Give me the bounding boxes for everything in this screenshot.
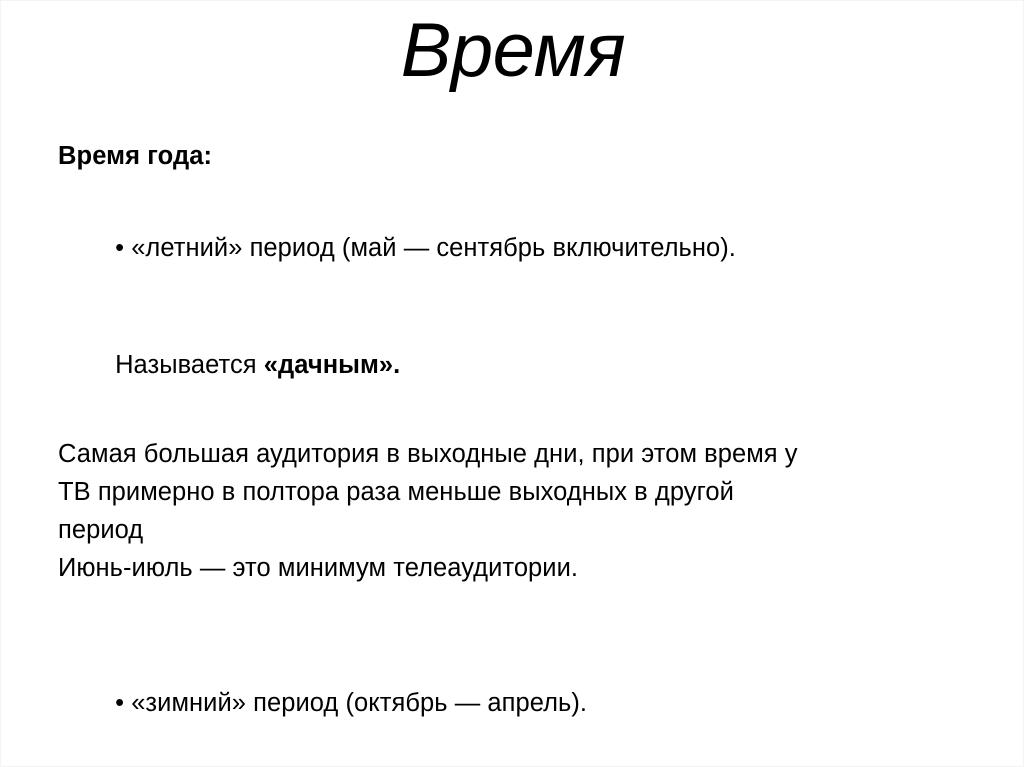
spacer [58,176,958,190]
summer-paragraph-line-2: ТВ примерно в полтора раза меньше выходн… [58,473,958,511]
slide: Время Время года: • «летний» период (май… [0,0,1024,767]
summer-paragraph-line-1: Самая большая аудитория в выходные дни, … [58,435,958,473]
winter-bullet-line: • «зимний» период (октябрь — апрель). [58,645,958,762]
summer-called-prefix: Называется [115,351,264,379]
season-heading: Время года: [58,137,958,176]
season-heading-block: Время года: [58,137,958,176]
spacer [58,424,958,435]
summer-paragraph-line-3: период [58,511,958,549]
bullet-icon: • [115,234,124,262]
spacer [58,587,958,645]
slide-body: Время года: • «летний» период (май — сен… [58,137,958,767]
summer-called-bold: «дачным». [264,351,400,379]
summer-paragraph-line-4: Июнь-июль — это минимум телеаудитории. [58,549,958,587]
spacer [58,762,958,767]
summer-paragraph-block: Самая большая аудитория в выходные дни, … [58,435,958,587]
page-title: Время [1,13,1024,89]
winter-block: • «зимний» период (октябрь — апрель). Ян… [58,645,958,767]
summer-called-line: Называется «дачным». [58,307,958,424]
bullet-icon: • [115,689,124,717]
summer-bullet-text: «летний» период (май — сентябрь включите… [131,234,736,262]
winter-bullet-text: «зимний» период (октябрь — апрель). [131,689,587,717]
summer-block: • «летний» период (май — сентябрь включи… [58,190,958,424]
summer-bullet-line: • «летний» период (май — сентябрь включи… [58,190,958,307]
